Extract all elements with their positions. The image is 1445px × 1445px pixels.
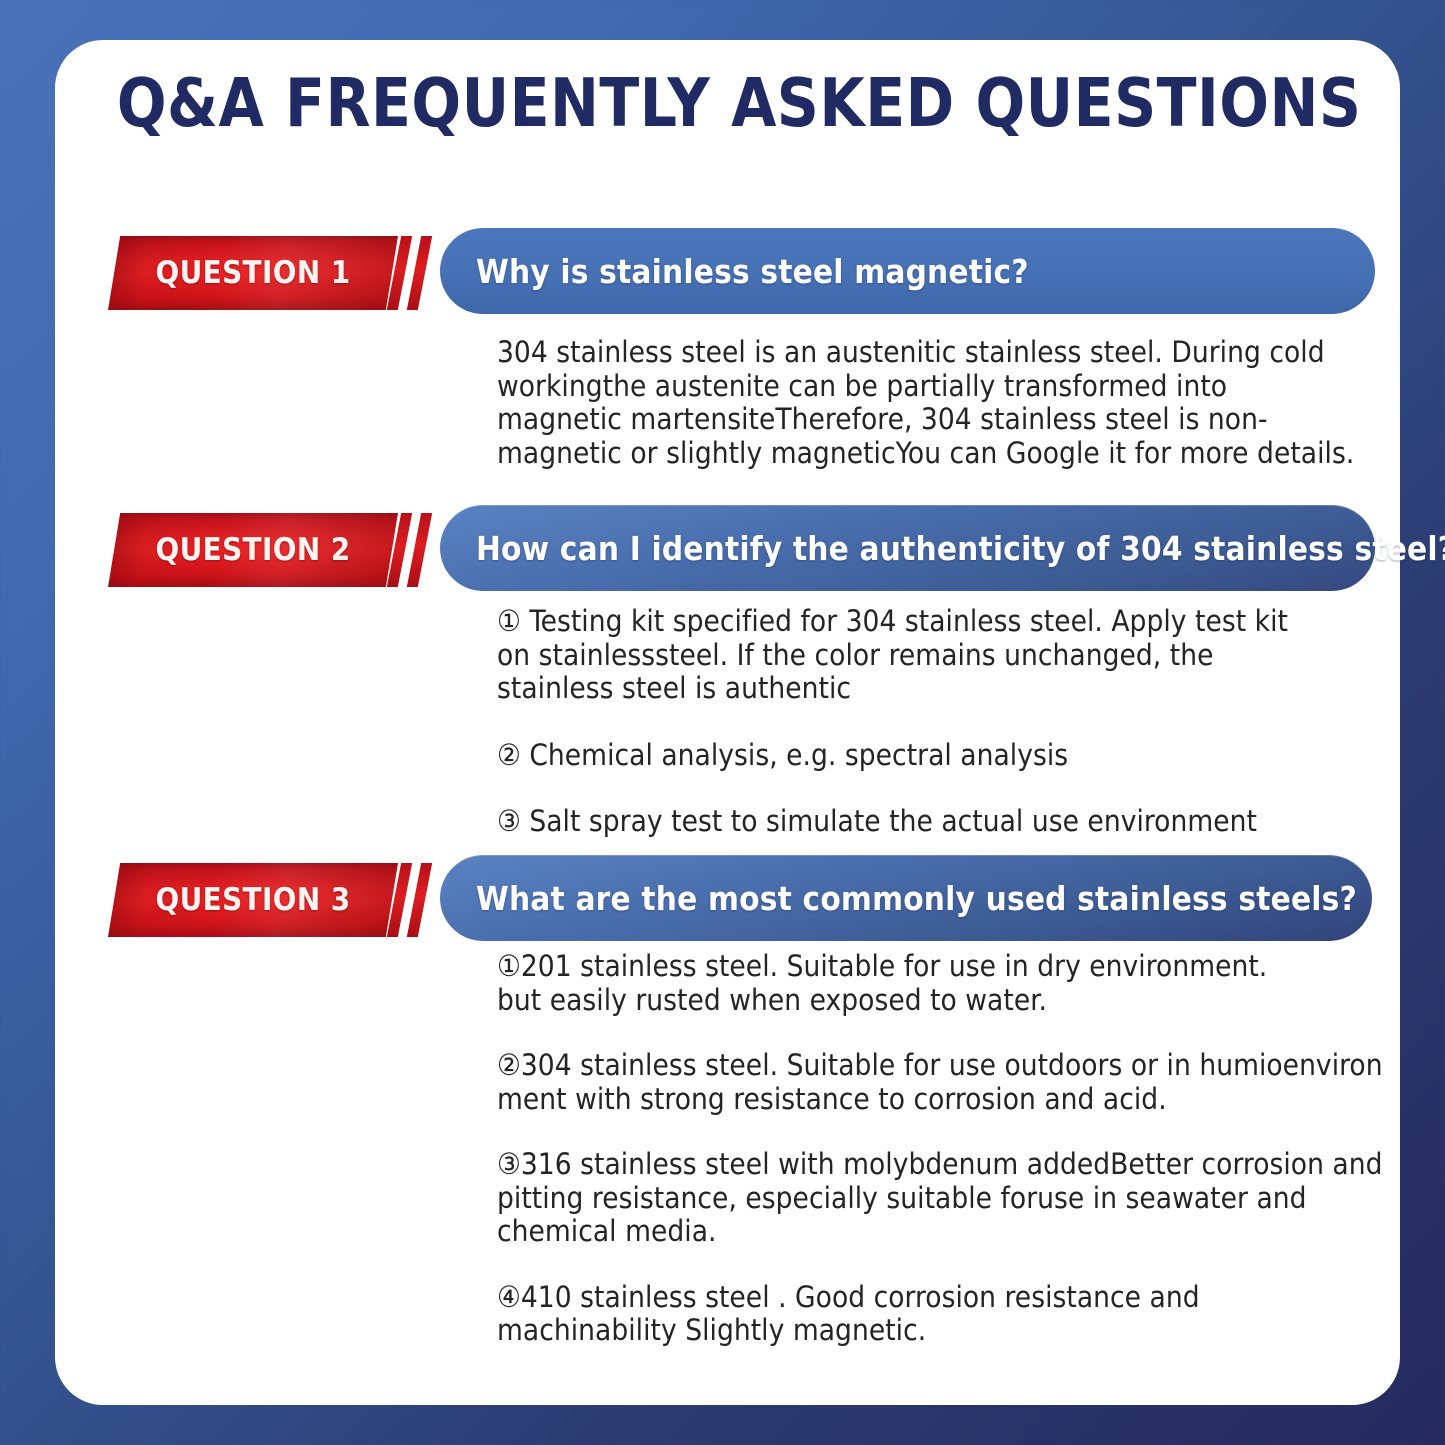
faq-header: QUESTION 2 How can I identify the authen… (0, 505, 1445, 593)
page-title: Q&A FREQUENTLY ASKED QUESTIONS (117, 64, 1334, 142)
faq-item: QUESTION 1 Why is stainless steel magnet… (0, 228, 1445, 316)
answer-body: ① Testing kit specified for 304 stainles… (497, 605, 1387, 839)
question-tag-label: QUESTION 2 (108, 513, 398, 587)
answer-paragraph: ② Chemical analysis, e.g. spectral analy… (497, 739, 1297, 773)
answer-paragraph: ①201 stainless steel. Suitable for use i… (497, 950, 1387, 1017)
answer-paragraph: ③ Salt spray test to simulate the actual… (497, 805, 1297, 839)
question-tag: QUESTION 1 (108, 236, 428, 310)
question-tag-label: QUESTION 1 (108, 236, 398, 310)
question-text: What are the most commonly used stainles… (476, 879, 1357, 918)
slash-decoration-icon (407, 236, 432, 310)
question-banner: Why is stainless steel magnetic? (440, 228, 1375, 314)
faq-item: QUESTION 2 How can I identify the authen… (0, 505, 1445, 593)
question-tag: QUESTION 2 (108, 513, 428, 587)
question-text: Why is stainless steel magnetic? (476, 252, 1029, 291)
question-banner: How can I identify the authenticity of 3… (440, 505, 1375, 591)
answer-paragraph: ②304 stainless steel. Suitable for use o… (497, 1049, 1387, 1116)
question-tag-label: QUESTION 3 (108, 863, 398, 937)
answer-paragraph: ① Testing kit specified for 304 stainles… (497, 605, 1297, 706)
question-tag: QUESTION 3 (108, 863, 428, 937)
faq-header: QUESTION 1 Why is stainless steel magnet… (0, 228, 1445, 316)
question-text: How can I identify the authenticity of 3… (476, 529, 1445, 568)
answer-body: ①201 stainless steel. Suitable for use i… (497, 950, 1387, 1348)
faq-header: QUESTION 3 What are the most commonly us… (0, 855, 1445, 943)
slash-decoration-icon (407, 513, 432, 587)
answer-body: 304 stainless steel is an austenitic sta… (497, 336, 1387, 470)
answer-paragraph: 304 stainless steel is an austenitic sta… (497, 336, 1357, 470)
question-banner: What are the most commonly used stainles… (440, 855, 1372, 941)
faq-page: Q&A FREQUENTLY ASKED QUESTIONS QUESTION … (0, 0, 1445, 1445)
answer-paragraph: ③316 stainless steel with molybdenum add… (497, 1148, 1387, 1249)
faq-item: QUESTION 3 What are the most commonly us… (0, 855, 1445, 943)
answer-paragraph: ④410 stainless steel . Good corrosion re… (497, 1281, 1387, 1348)
slash-decoration-icon (407, 863, 432, 937)
